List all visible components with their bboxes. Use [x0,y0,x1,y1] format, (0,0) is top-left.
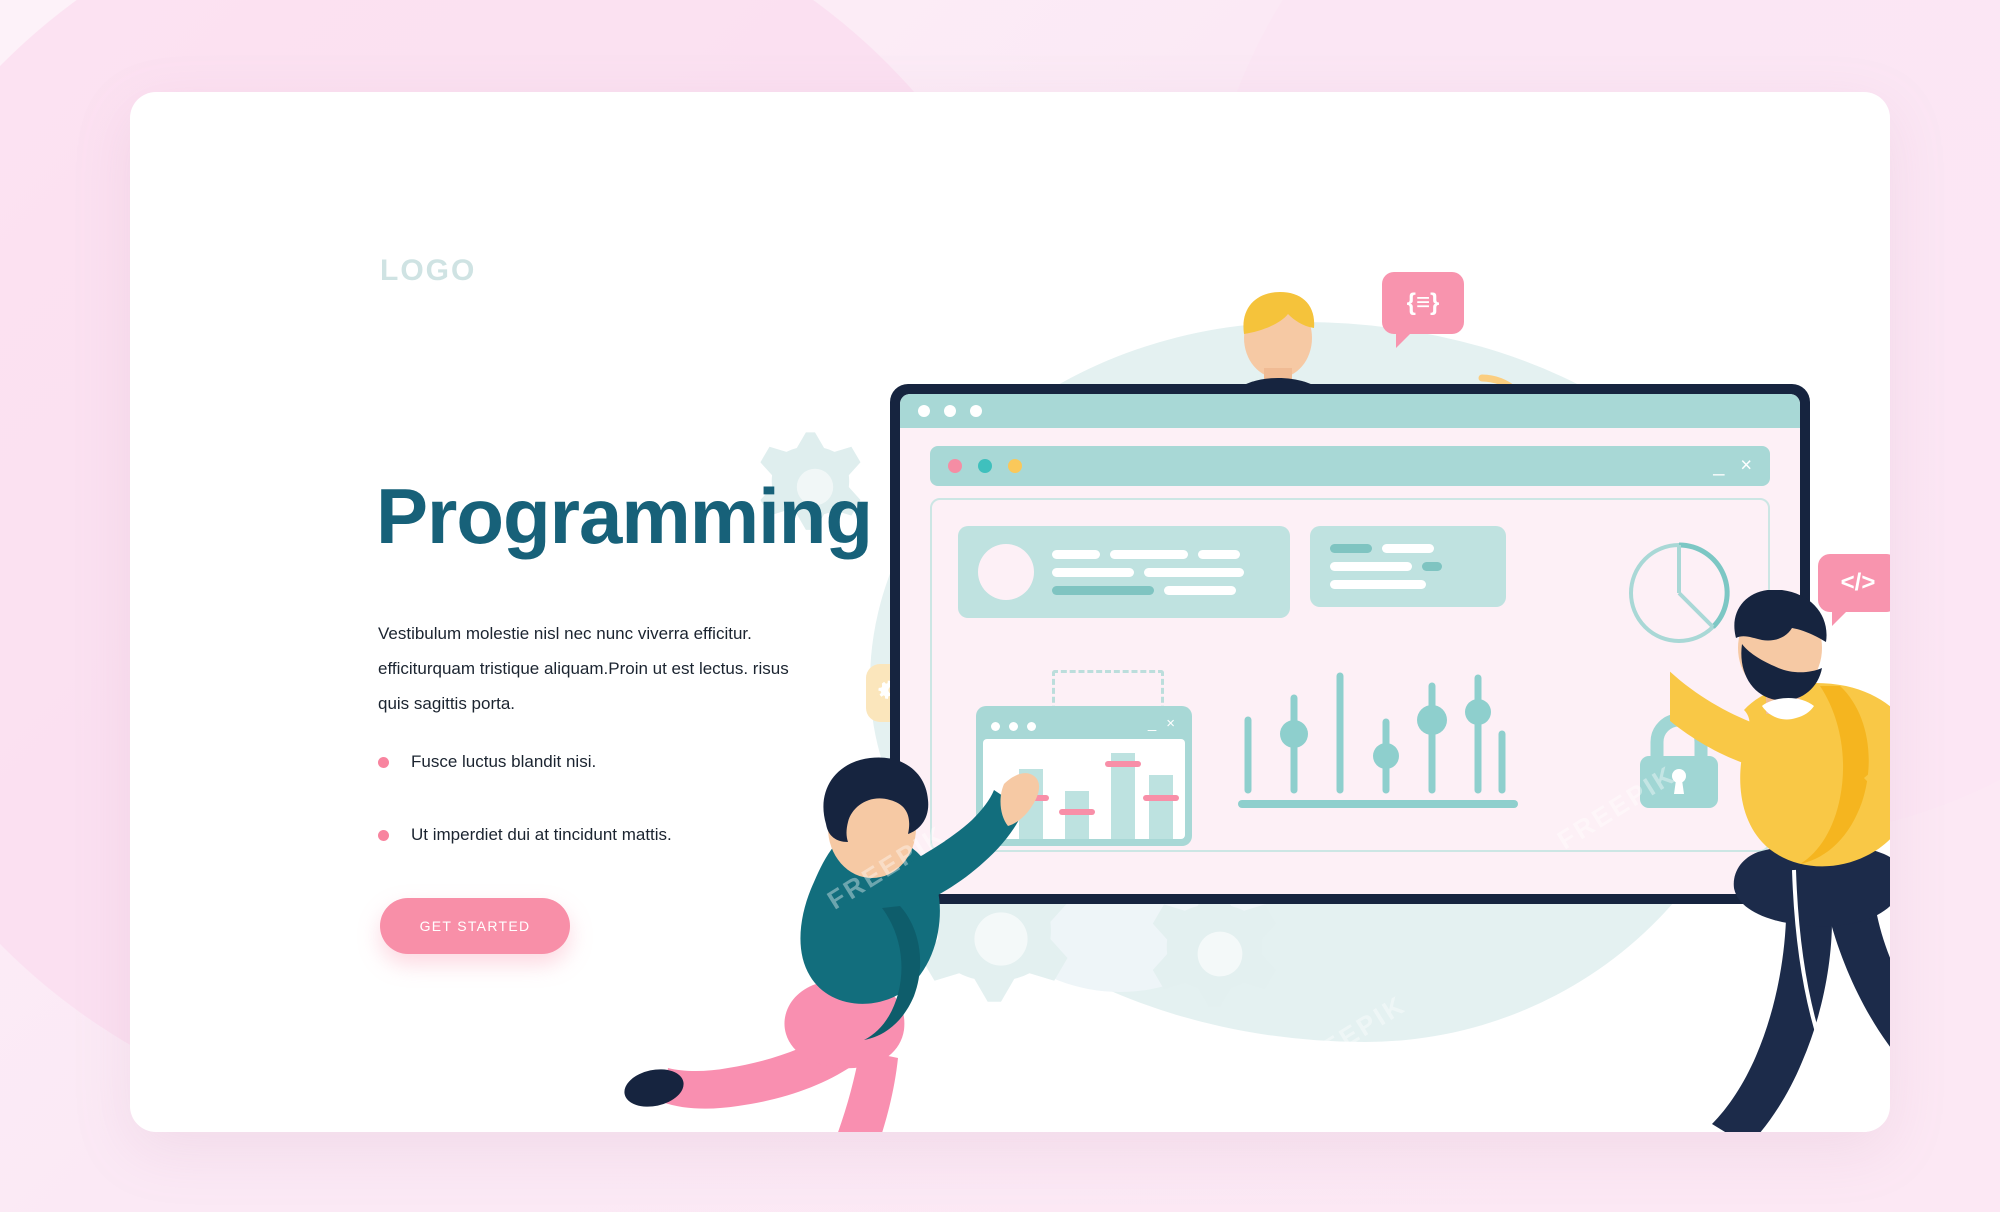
window-controls: _ × [1713,455,1752,478]
window-dot-icon [970,405,982,417]
profile-text-lines [1052,550,1270,595]
close-icon[interactable]: × [1740,455,1752,478]
minimize-icon[interactable]: _ [1148,715,1156,732]
avatar [978,544,1034,600]
text-line [1198,550,1240,559]
monitor-titlebar [900,394,1800,428]
developer-right [1670,590,1890,1132]
line-row [1330,580,1486,589]
text-line [1144,568,1244,577]
detail-card[interactable] [1310,526,1506,607]
minimize-icon[interactable]: _ [1713,455,1724,478]
text-line [1110,550,1188,559]
text-line [1382,544,1434,553]
window-dot-icon [918,405,930,417]
window-dot-minimize-icon[interactable] [978,459,992,473]
close-icon[interactable]: × [1166,715,1175,732]
window-dot-icon [1009,722,1018,731]
text-line-highlight [1422,562,1442,571]
window-dot-maximize-icon[interactable] [1008,459,1022,473]
line-row [1052,550,1270,559]
window-dot-icon [991,722,1000,731]
text-line-highlight [1052,586,1154,595]
hero-card: LOGO Programming Vestibulum molestie nis… [130,92,1890,1132]
text-line [1330,580,1426,589]
line-row [1052,568,1270,577]
mini-window-controls: _ × [1148,715,1175,732]
text-line [1052,568,1134,577]
window-dot-icon [944,405,956,417]
developer-left [620,732,1160,1132]
app-toolbar: _ × [930,446,1770,486]
text-line [1164,586,1236,595]
hero-illustration: PHP {≡} </> [130,92,1890,1132]
line-row [1330,544,1486,553]
text-line-highlight [1330,544,1372,553]
line-row [1330,562,1486,571]
text-line [1052,550,1100,559]
equalizer-sliders[interactable] [1232,664,1522,814]
text-line [1330,562,1412,571]
detail-text-lines [1330,544,1486,589]
profile-card[interactable] [958,526,1290,618]
line-row [1052,586,1270,595]
window-dot-close-icon[interactable] [948,459,962,473]
window-dot-icon [1027,722,1036,731]
